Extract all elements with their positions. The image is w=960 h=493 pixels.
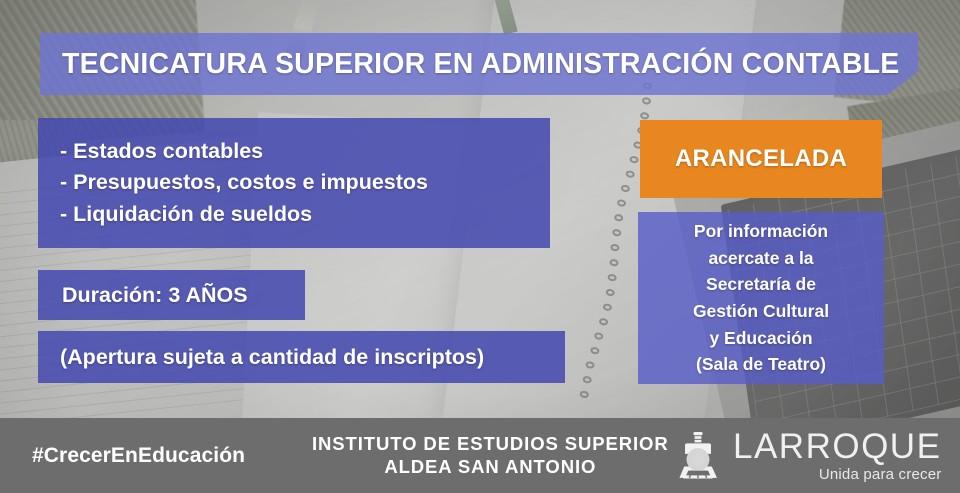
duration-text: Duración: 3 AÑOS [62, 283, 248, 308]
enrolment-note-panel: (Apertura sujeta a cantidad de inscripto… [38, 331, 565, 383]
enrolment-note-text: (Apertura sujeta a cantidad de inscripto… [60, 345, 484, 370]
duration-panel: Duración: 3 AÑOS [38, 270, 305, 320]
arancelada-label: ARANCELADA [675, 145, 847, 173]
institute-name: INSTITUTO DE ESTUDIOS SUPERIOR ALDEA SAN… [312, 433, 669, 478]
logo-tagline: Unida para crecer [733, 467, 941, 482]
subjects-panel: - Estados contables - Presupuestos, cost… [38, 118, 550, 248]
footer-bar: #CrecerEnEducación INSTITUTO DE ESTUDIOS… [0, 418, 960, 493]
institute-line: ALDEA SAN ANTONIO [312, 456, 669, 479]
hashtag-text: #CrecerEnEducación [32, 444, 245, 468]
logo-name: LARROQUE [733, 429, 941, 464]
locomotive-icon [672, 430, 724, 482]
info-line: Secretaría de [706, 271, 816, 298]
info-line: y Educación [709, 325, 812, 352]
larroque-logo: LARROQUE Unida para crecer [672, 429, 941, 482]
institute-line: INSTITUTO DE ESTUDIOS SUPERIOR [312, 433, 669, 456]
info-line: (Sala de Teatro) [696, 351, 826, 378]
contact-info-panel: Por información acercate a la Secretaría… [638, 212, 884, 384]
list-item: - Liquidación de sueldos [60, 199, 312, 231]
logo-wordmark: LARROQUE Unida para crecer [733, 429, 941, 482]
poster: TECNICATURA SUPERIOR EN ADMINISTRACIÓN C… [0, 0, 960, 493]
info-line: acercate a la [708, 245, 813, 272]
list-item: - Presupuestos, costos e impuestos [60, 167, 428, 199]
page-title: TECNICATURA SUPERIOR EN ADMINISTRACIÓN C… [62, 48, 899, 81]
info-line: Gestión Cultural [693, 298, 829, 325]
list-item: - Estados contables [60, 136, 263, 168]
status-badge-arancelada: ARANCELADA [640, 120, 882, 198]
poster-title-banner: TECNICATURA SUPERIOR EN ADMINISTRACIÓN C… [40, 33, 918, 95]
info-line: Por información [694, 218, 828, 245]
